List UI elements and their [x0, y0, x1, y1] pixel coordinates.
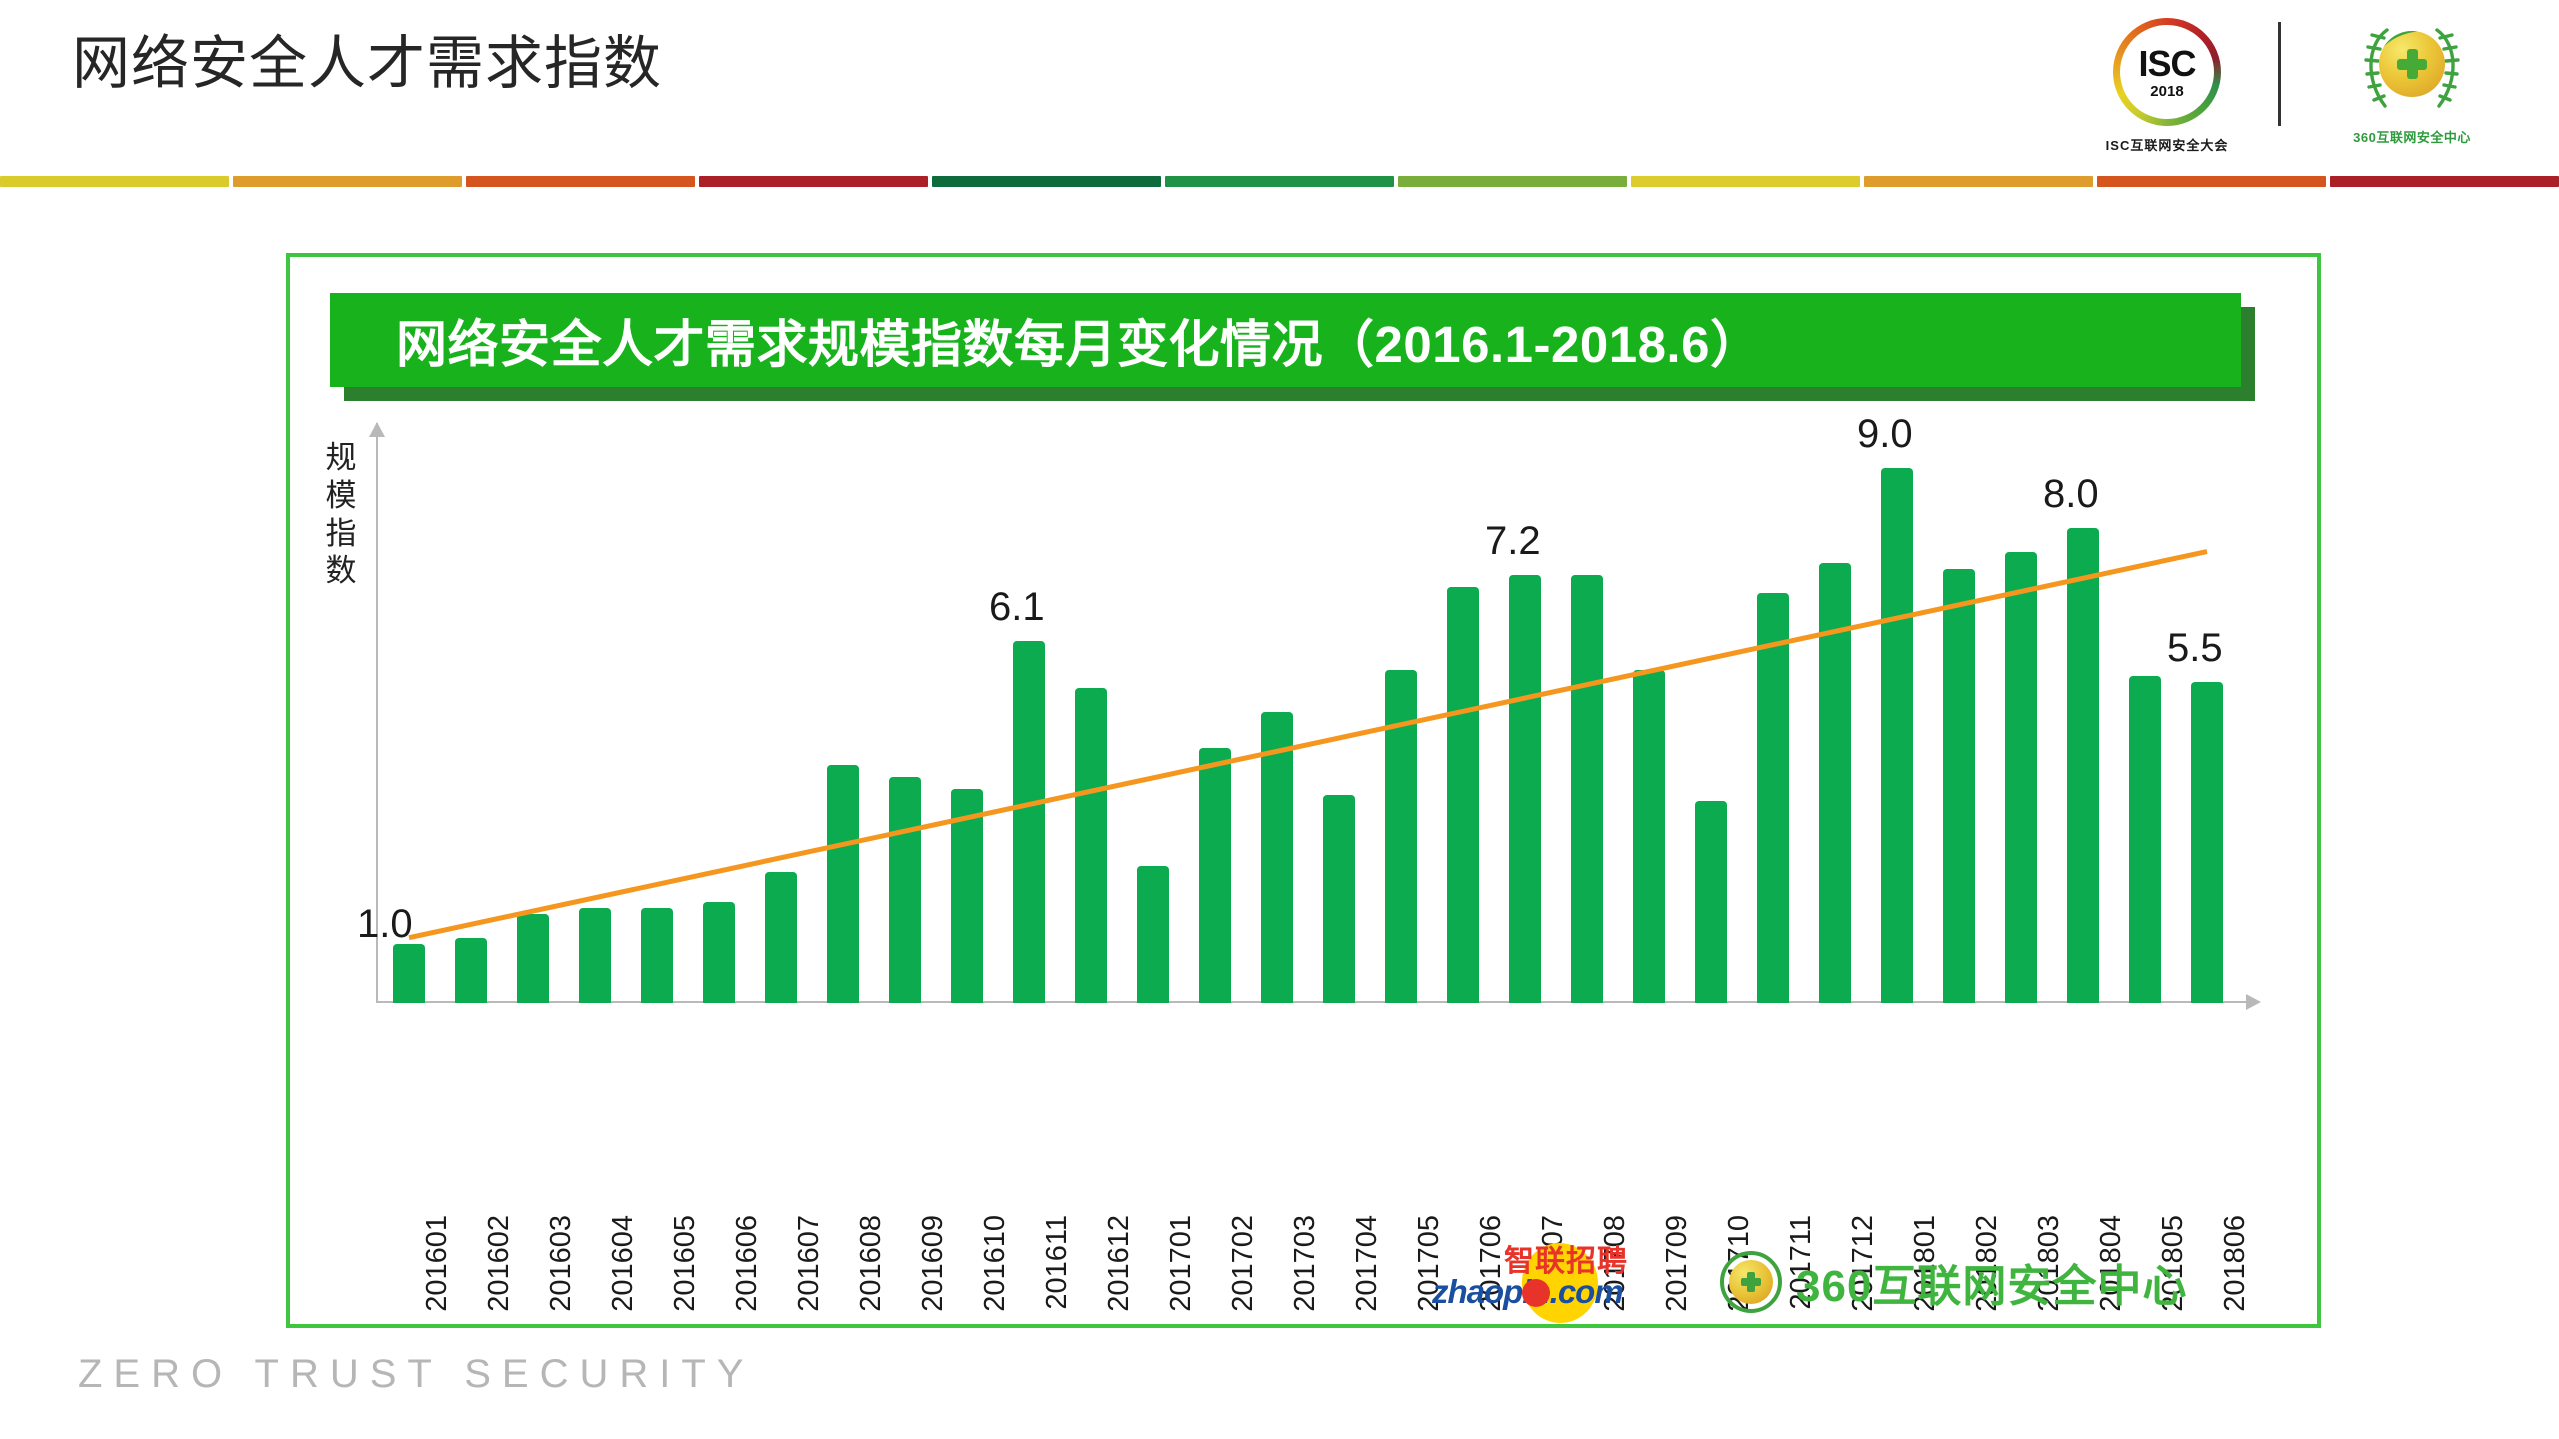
bar-rect	[951, 789, 983, 1003]
bar-value-label-201801: 9.0	[1857, 412, 1913, 457]
bar-rect	[2191, 682, 2223, 1003]
bar-value-label-201804: 8.0	[2043, 472, 2099, 517]
bar-201612	[1075, 409, 1107, 1003]
chart-credits: 智联招聘 zhaopin.com 360互联网安全中心	[1430, 1239, 2187, 1325]
bar-rect	[2067, 528, 2099, 1003]
bar-rect	[1261, 712, 1293, 1003]
bar-201701	[1137, 409, 1169, 1003]
bar-rect	[1385, 670, 1417, 1003]
bar-201706	[1447, 409, 1479, 1003]
bar-rect	[1881, 468, 1913, 1003]
bar-201606	[703, 409, 735, 1003]
bar-rect	[641, 908, 673, 1003]
x-axis-label-201611: 201611	[1041, 1215, 1074, 1310]
zhaopin-logo: 智联招聘 zhaopin.com	[1430, 1239, 1660, 1325]
chart-banner: 网络安全人才需求规模指数每月变化情况（2016.1-2018.6）	[330, 293, 2255, 401]
bar-rect	[1757, 593, 1789, 1003]
bar-rect	[1819, 563, 1851, 1003]
bar-rect	[393, 944, 425, 1003]
bar-201708	[1571, 409, 1603, 1003]
bar-rect	[1013, 641, 1045, 1003]
bar-rect	[1199, 748, 1231, 1003]
sec360-credit: 360互联网安全中心	[1720, 1250, 2187, 1314]
y-axis-title-char: 指	[318, 515, 364, 553]
bar-201711	[1757, 409, 1789, 1003]
y-axis-title-char: 模	[318, 477, 364, 515]
bar-201705	[1385, 409, 1417, 1003]
isc-mark-icon: ISC 2018	[2113, 18, 2221, 126]
color-divider-segment-1	[233, 176, 462, 187]
bar-rect	[1633, 670, 1665, 1003]
slide-root: 网络安全人才需求指数 ISC 2018 ISC互联网安全大会	[0, 0, 2559, 1439]
bar-201710	[1695, 409, 1727, 1003]
x-axis-label-201702: 201702	[1227, 1215, 1260, 1312]
color-divider-segment-6	[1398, 176, 1627, 187]
bar-201611	[1013, 409, 1045, 1003]
bar-value-label-201611: 6.1	[989, 585, 1045, 630]
logo-divider	[2278, 22, 2281, 126]
x-axis-label-201604: 201604	[607, 1215, 640, 1312]
color-divider-segment-9	[2097, 176, 2326, 187]
color-divider-segment-0	[0, 176, 229, 187]
bar-201603	[517, 409, 549, 1003]
bar-201712	[1819, 409, 1851, 1003]
bar-201805	[2129, 409, 2161, 1003]
bar-value-label-201707: 7.2	[1485, 519, 1541, 564]
bar-rect	[1571, 575, 1603, 1003]
bar-rect	[1323, 795, 1355, 1003]
x-axis-label-201605: 201605	[669, 1215, 702, 1312]
x-axis-label-201703: 201703	[1289, 1215, 1322, 1312]
bar-value-label-201601: 1.0	[357, 902, 413, 947]
bar-201709	[1633, 409, 1665, 1003]
color-divider-segment-8	[1864, 176, 2093, 187]
isc-wordmark: ISC	[2138, 46, 2195, 82]
chart-title: 网络安全人才需求规模指数每月变化情况（2016.1-2018.6）	[396, 303, 1761, 377]
bar-rect	[1509, 575, 1541, 1003]
sec360-logo-caption: 360互联网安全中心	[2353, 127, 2471, 146]
bar-rect	[703, 902, 735, 1003]
x-axis-label-201704: 201704	[1351, 1215, 1384, 1312]
bar-rect	[1075, 688, 1107, 1003]
y-axis-title-char: 数	[318, 552, 364, 590]
color-divider-segment-10	[2330, 176, 2559, 187]
bar-201801	[1881, 409, 1913, 1003]
cross-icon	[2397, 49, 2427, 79]
bar-rect	[2129, 676, 2161, 1003]
bar-201702	[1199, 409, 1231, 1003]
bar-rect	[1943, 569, 1975, 1003]
color-divider-segment-5	[1165, 176, 1394, 187]
y-axis-title: 规模指数	[318, 439, 364, 590]
bar-rect	[1695, 801, 1727, 1003]
bar-value-label-201806: 5.5	[2167, 626, 2223, 671]
bar-201803	[2005, 409, 2037, 1003]
bar-201610	[951, 409, 983, 1003]
bar-201607	[765, 409, 797, 1003]
sec360-mini-mark-icon	[1720, 1251, 1782, 1313]
chart-card: 网络安全人才需求规模指数每月变化情况（2016.1-2018.6） 规模指数 1…	[286, 253, 2321, 1328]
x-axis-label-201610: 201610	[979, 1215, 1012, 1312]
bar-201602	[455, 409, 487, 1003]
bar-201605	[641, 409, 673, 1003]
bar-rect	[1137, 866, 1169, 1003]
bars-container: 1.06.17.29.08.05.5	[378, 409, 2238, 1003]
x-axis-label-201609: 201609	[917, 1215, 950, 1312]
isc-logo: ISC 2018 ISC互联网安全大会	[2092, 18, 2242, 154]
bar-rect	[889, 777, 921, 1003]
plot-area: 规模指数 1.06.17.29.08.05.5 2016012016022016…	[290, 409, 2317, 1324]
color-divider-segment-4	[932, 176, 1161, 187]
color-divider-bar	[0, 176, 2559, 187]
bar-201609	[889, 409, 921, 1003]
sec360-credit-text: 360互联网安全中心	[1796, 1250, 2187, 1314]
bar-201802	[1943, 409, 1975, 1003]
color-divider-segment-7	[1631, 176, 1860, 187]
x-axis-label-201701: 201701	[1165, 1215, 1198, 1312]
x-axis-label-201603: 201603	[545, 1215, 578, 1312]
bar-201707	[1509, 409, 1541, 1003]
sec360-logo: 360互联网安全中心	[2317, 18, 2507, 146]
x-axis-label-201612: 201612	[1103, 1215, 1136, 1312]
color-divider-segment-2	[466, 176, 695, 187]
x-axis-label-201602: 201602	[483, 1215, 516, 1312]
bar-rect	[1447, 587, 1479, 1003]
bar-rect	[517, 914, 549, 1003]
bar-rect	[827, 765, 859, 1003]
bar-201806	[2191, 409, 2223, 1003]
isc-logo-caption: ISC互联网安全大会	[2106, 135, 2229, 154]
bar-201608	[827, 409, 859, 1003]
bar-201604	[579, 409, 611, 1003]
x-axis-labels: 2016012016022016032016042016052016062016…	[378, 1009, 2238, 1239]
header-logo-group: ISC 2018 ISC互联网安全大会 3	[2092, 18, 2507, 168]
x-axis-label-201601: 201601	[421, 1215, 454, 1312]
bar-rect	[455, 938, 487, 1003]
sec360-mark-icon	[2357, 18, 2467, 118]
bar-rect	[765, 872, 797, 1003]
y-axis-title-char: 规	[318, 439, 364, 477]
x-axis-label-201608: 201608	[855, 1215, 888, 1312]
page-title: 网络安全人才需求指数	[72, 28, 662, 101]
x-axis-label-201607: 201607	[793, 1215, 826, 1312]
x-axis-label-201806: 201806	[2219, 1215, 2252, 1312]
bar-rect	[579, 908, 611, 1003]
footer-watermark: ZERO TRUST SECURITY	[78, 1352, 754, 1397]
color-divider-segment-3	[699, 176, 928, 187]
bar-201704	[1323, 409, 1355, 1003]
bar-201703	[1261, 409, 1293, 1003]
x-axis-label-201606: 201606	[731, 1215, 764, 1312]
isc-year: 2018	[2138, 84, 2195, 99]
bar-rect	[2005, 552, 2037, 1003]
